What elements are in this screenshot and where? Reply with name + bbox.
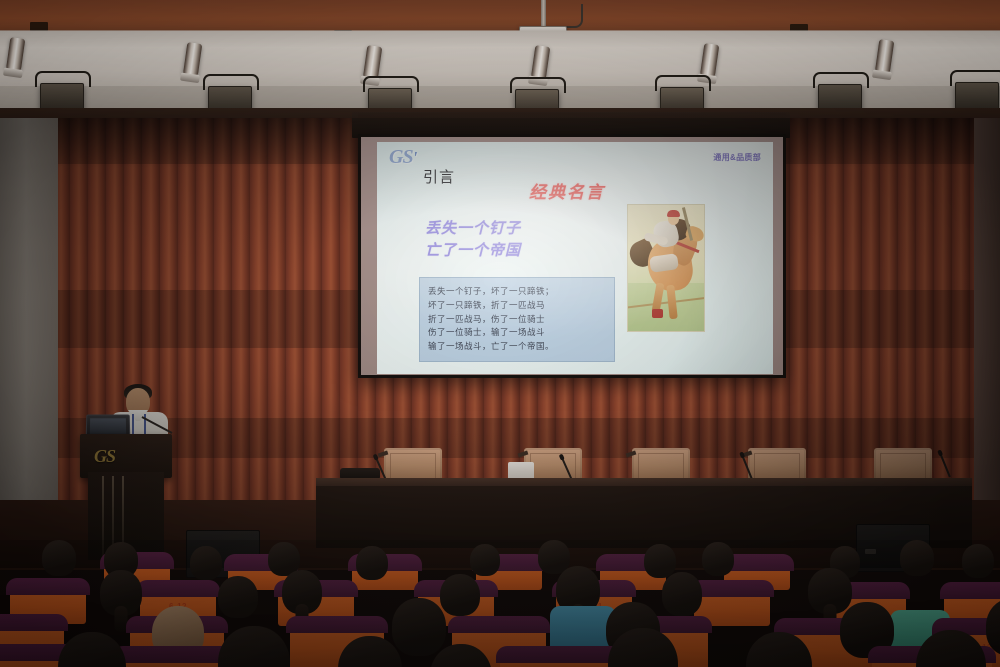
projection-screen-frame: GS' 通用&品质部 引言 经典名言 丢失一个钉子 亡了一个帝国 丢失一个钉子，… [358, 134, 786, 378]
auditorium-seat[interactable] [500, 652, 620, 667]
audience-head [470, 544, 500, 576]
audience-head [644, 544, 676, 578]
auditorium-scene: GS' 通用&品质部 引言 经典名言 丢失一个钉子 亡了一个帝国 丢失一个钉子，… [0, 0, 1000, 667]
gs-logo-text: GS [389, 146, 413, 168]
audience-head [218, 576, 258, 618]
quote-line: 折了一匹战马，伤了一位骑士 [428, 313, 608, 327]
audience-head [100, 570, 142, 616]
audience-head [440, 574, 480, 616]
audience-head [282, 570, 322, 614]
audience-head [190, 546, 222, 580]
purple-line: 丢失一个钉子 [425, 218, 521, 240]
stage-chair [632, 448, 690, 480]
audience-head [702, 542, 734, 576]
gs-logo: GS' [389, 146, 416, 169]
stage-chair [748, 448, 806, 480]
quote-text-box: 丢失一个钉子，坏了一只蹄铁； 坏了一只蹄铁，折了一匹战马 折了一匹战马，伤了一位… [419, 277, 615, 362]
audience-head [58, 632, 126, 667]
stage-chair [874, 448, 932, 480]
slide-purple-heading: 丢失一个钉子 亡了一个帝国 [425, 218, 521, 262]
audience-head [356, 546, 388, 580]
gs-logo-tick: ' [413, 148, 417, 167]
quote-line: 坏了一只蹄铁，折了一匹战马 [428, 299, 608, 313]
department-tag: 通用&品质部 [713, 152, 761, 163]
audience-head [900, 540, 934, 576]
audience-head [662, 572, 702, 616]
audience-head [42, 540, 76, 576]
projector-cable [565, 4, 583, 28]
slide-section-title: 引言 [423, 166, 455, 187]
stage-chair [384, 448, 442, 480]
audience-head [962, 544, 994, 578]
purple-line: 亡了一个帝国 [425, 240, 521, 262]
audience-head [218, 626, 290, 667]
audience-area: 6-12 4-11 6-12 4-12 [0, 540, 1000, 667]
quote-line: 输了一场战斗，亡了一个帝国。 [428, 340, 608, 354]
quote-line: 丢失一个钉子，坏了一只蹄铁； [428, 285, 608, 299]
slide-red-heading: 经典名言 [529, 178, 605, 203]
quote-line: 伤了一位骑士，输了一场战斗 [428, 326, 608, 340]
podium-gs-logo: GS [94, 446, 115, 467]
audience-head [808, 568, 852, 614]
audience-head [392, 598, 446, 656]
knight-on-horse-image [627, 204, 705, 332]
presentation-slide: GS' 通用&品质部 引言 经典名言 丢失一个钉子 亡了一个帝国 丢失一个钉子，… [377, 142, 773, 374]
